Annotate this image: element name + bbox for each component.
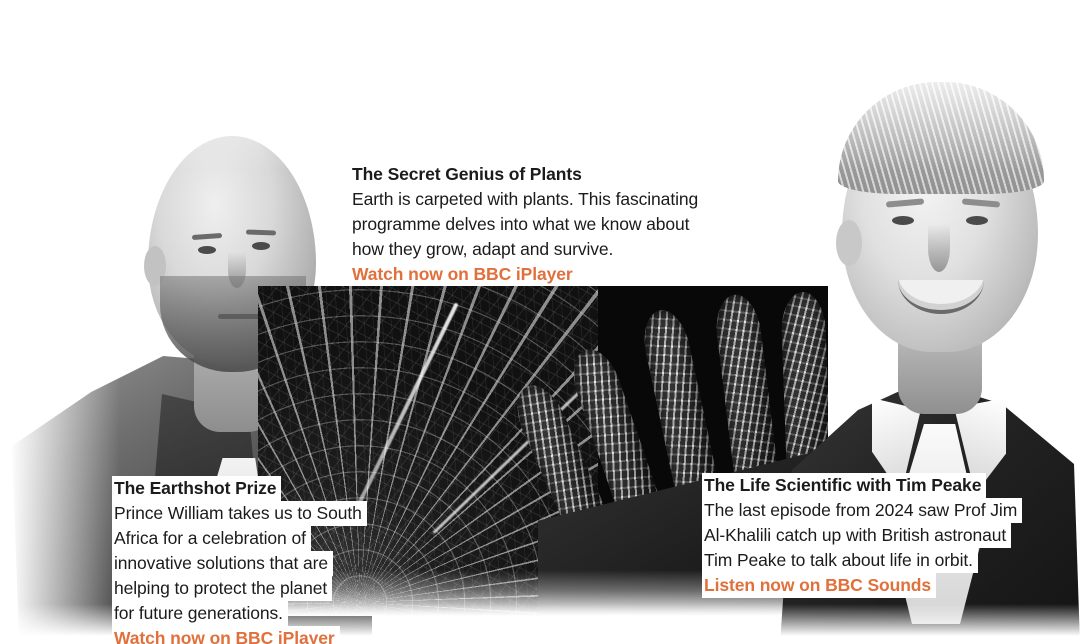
promo-cta-link[interactable]: Listen now on BBC Sounds [702,573,936,598]
promo-body-line: Tim Peake to talk about life in orbit. [702,548,978,573]
nose-shape [928,224,950,272]
eyebrow-right-shape [246,229,276,235]
promo-body-line: programme delves into what we know about [352,212,694,237]
eye-right-shape [966,216,988,225]
promo-body-line: Al-Khalili catch up with British astrona… [702,523,1011,548]
promo-title: The Secret Genius of Plants [352,162,587,187]
promo-body-line: Earth is carpeted with plants. This fasc… [352,187,703,212]
promo-body-line: innovative solutions that are [112,551,333,576]
promo-body-line: The last episode from 2024 saw Prof Jim [702,498,1022,523]
promo-title: The Life Scientific with Tim Peake [702,473,986,498]
hair-shape [838,82,1044,194]
promo-body-line: for future generations. [112,601,288,626]
promo-body-line: helping to protect the planet [112,576,332,601]
ear-shape [836,220,862,266]
eye-right-shape [252,242,270,250]
nose-shape [228,252,246,288]
promo-body-line: Africa for a celebration of [112,526,311,551]
promo-secret-genius-of-plants[interactable]: The Secret Genius of Plants Earth is car… [352,162,703,287]
promo-collage: The Secret Genius of Plants Earth is car… [0,0,1080,644]
eye-left-shape [892,216,914,225]
promo-life-scientific[interactable]: The Life Scientific with Tim Peake The l… [702,473,1022,598]
promo-body-line: Prince William takes us to South [112,501,367,526]
promo-cta-link[interactable]: Watch now on BBC iPlayer [352,262,578,287]
promo-earthshot-prize[interactable]: The Earthshot Prize Prince William takes… [112,476,367,644]
promo-body-line: how they grow, adapt and survive. [352,237,618,262]
promo-title: The Earthshot Prize [112,476,281,501]
eye-left-shape [198,246,216,254]
promo-cta-link[interactable]: Watch now on BBC iPlayer [112,626,340,644]
